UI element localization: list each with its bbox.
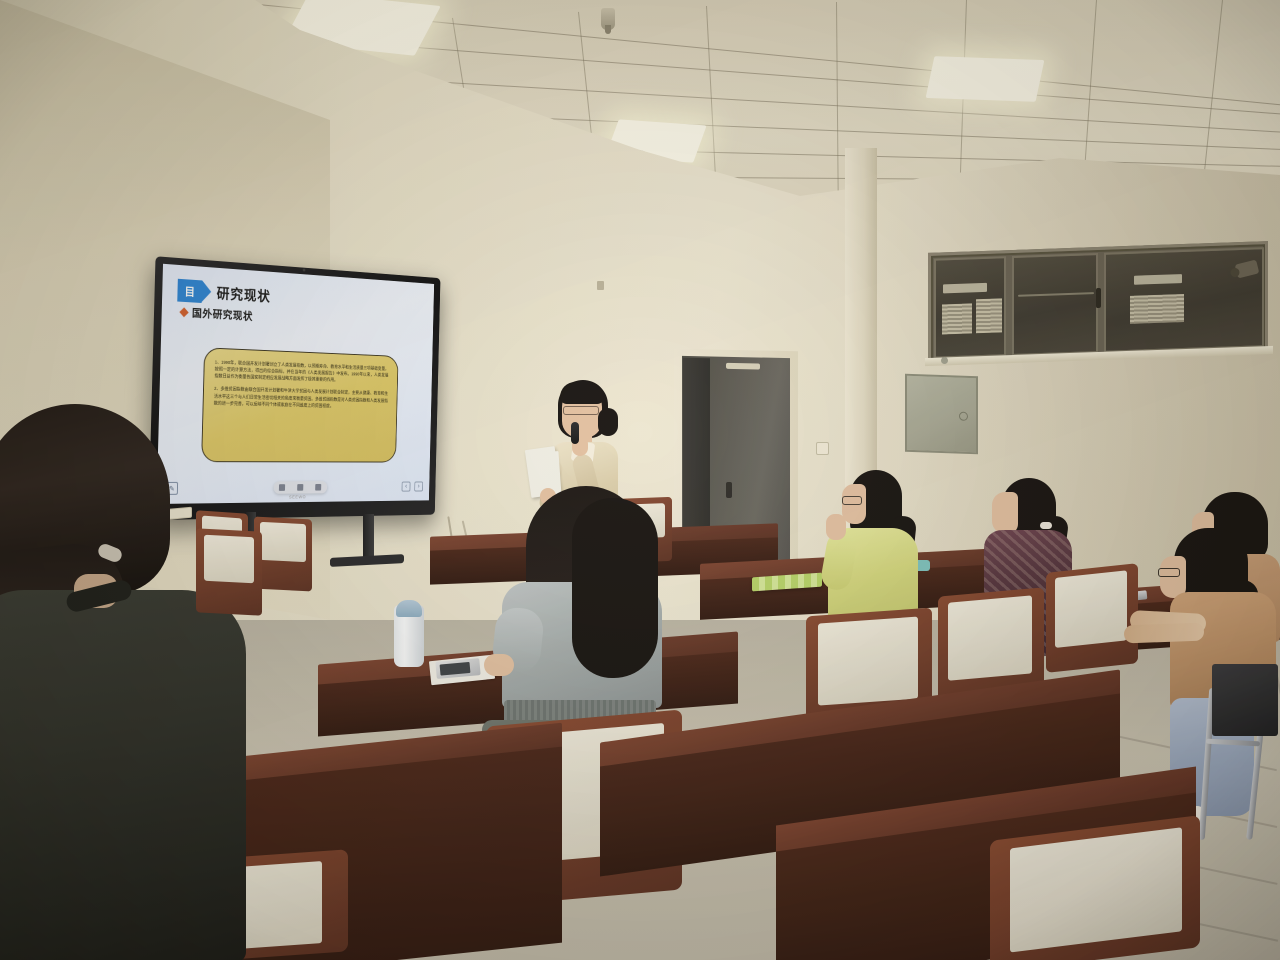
slide-paragraph-1: 1、1990年，联合国开发计划署创立了人类发展指数，以预期寿命、教育水平和生活质… — [214, 359, 388, 386]
slide-toolbar[interactable] — [273, 481, 327, 494]
slide-nav[interactable]: ‹ › — [402, 481, 424, 491]
light-switch-icon[interactable] — [816, 442, 829, 455]
door-handle-icon[interactable] — [726, 482, 732, 498]
luggage-trolley[interactable] — [1198, 688, 1280, 858]
ceiling-light-3 — [926, 56, 1045, 102]
eraser-icon[interactable] — [297, 484, 303, 491]
presenter-glasses-icon — [563, 406, 599, 415]
attendee-yellow-glasses-icon — [842, 496, 862, 505]
window-pane-middle — [1012, 253, 1098, 356]
chair-left-1[interactable] — [196, 528, 262, 615]
attendee-front-left-shirt — [0, 590, 246, 960]
attendee-front-center-hand — [484, 654, 514, 676]
smoke-detector-icon — [601, 8, 615, 30]
menu-icon[interactable] — [315, 484, 321, 491]
next-slide-button[interactable]: › — [414, 481, 423, 491]
chair-front-right[interactable] — [990, 815, 1200, 960]
wall-hook-icon — [941, 357, 948, 364]
chair-mid-3[interactable] — [1046, 563, 1138, 673]
bullet-diamond-icon — [179, 307, 188, 317]
attendee-front-left — [0, 404, 270, 960]
slide-header-icon: 目 — [177, 279, 202, 303]
window-latch-icon[interactable] — [1096, 288, 1101, 308]
thermos-cap[interactable] — [396, 600, 422, 617]
electrical-panel[interactable] — [905, 374, 978, 455]
prev-slide-button[interactable]: ‹ — [402, 482, 411, 492]
ir-sensor-icon — [303, 269, 306, 272]
slide-header: 目 研究现状 — [177, 279, 271, 307]
slide-subtitle-row: 国外研究现状 — [181, 305, 254, 324]
interior-window — [928, 241, 1268, 365]
attendee-right-front-glasses-icon — [1158, 568, 1180, 577]
window-pane-left — [934, 256, 1006, 359]
pen-icon[interactable] — [279, 484, 285, 491]
microphone-icon[interactable] — [571, 422, 579, 444]
display-brand-label: SEEWO — [289, 494, 306, 499]
slide-title: 研究现状 — [216, 283, 270, 306]
slide-subtitle: 国外研究现状 — [192, 305, 253, 323]
conference-room-photo: 目 研究现状 国外研究现状 1、1990年，联合国开发计划署创立了人类发展指数，… — [0, 0, 1280, 960]
wall-fixture — [597, 281, 604, 290]
